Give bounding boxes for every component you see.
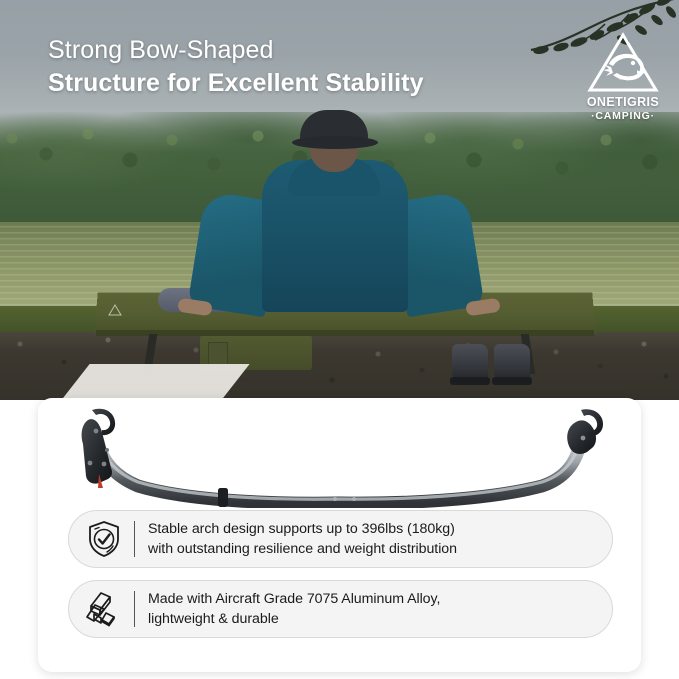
product-image-bow-bar [52, 404, 627, 508]
feature-text-line-2: lightweight & durable [148, 609, 594, 629]
bucket-hat-brim [292, 136, 378, 149]
feature-divider [134, 521, 135, 557]
headline: Strong Bow-Shaped Structure for Excellen… [48, 36, 568, 98]
feature-text-line-2: with outstanding resilience and weight d… [148, 539, 594, 559]
metal-ingots-icon [83, 591, 125, 627]
feature-item-material: Made with Aircraft Grade 7075 Aluminum A… [68, 580, 613, 638]
shield-check-icon [83, 520, 125, 558]
feature-divider [134, 591, 135, 627]
tiger-head-triangle-icon [587, 32, 659, 94]
headline-line-1: Strong Bow-Shaped [48, 36, 568, 66]
product-feature-banner: Strong Bow-Shaped Structure for Excellen… [0, 0, 679, 679]
feature-text-line-1: Made with Aircraft Grade 7075 Aluminum A… [148, 589, 594, 609]
brand-name: ONETIGRIS [577, 95, 669, 109]
boot-left [452, 344, 488, 382]
camping-cot-edge [96, 330, 594, 336]
boot-right [494, 344, 530, 382]
feature-card: Stable arch design supports up to 396lbs… [38, 398, 641, 672]
brand-tagline: ·CAMPING· [577, 110, 669, 122]
headline-line-2: Structure for Excellent Stability [48, 68, 568, 99]
brand-logo: ONETIGRIS ·CAMPING· [577, 32, 669, 128]
feature-text: Made with Aircraft Grade 7075 Aluminum A… [148, 589, 594, 629]
feature-text-line-1: Stable arch design supports up to 396lbs… [148, 519, 594, 539]
paved-edge [58, 364, 249, 400]
feature-item-load-capacity: Stable arch design supports up to 396lbs… [68, 510, 613, 568]
feature-text: Stable arch design supports up to 396lbs… [148, 519, 594, 559]
feature-list: Stable arch design supports up to 396lbs… [68, 510, 613, 650]
cot-brand-logo-icon [108, 304, 122, 316]
